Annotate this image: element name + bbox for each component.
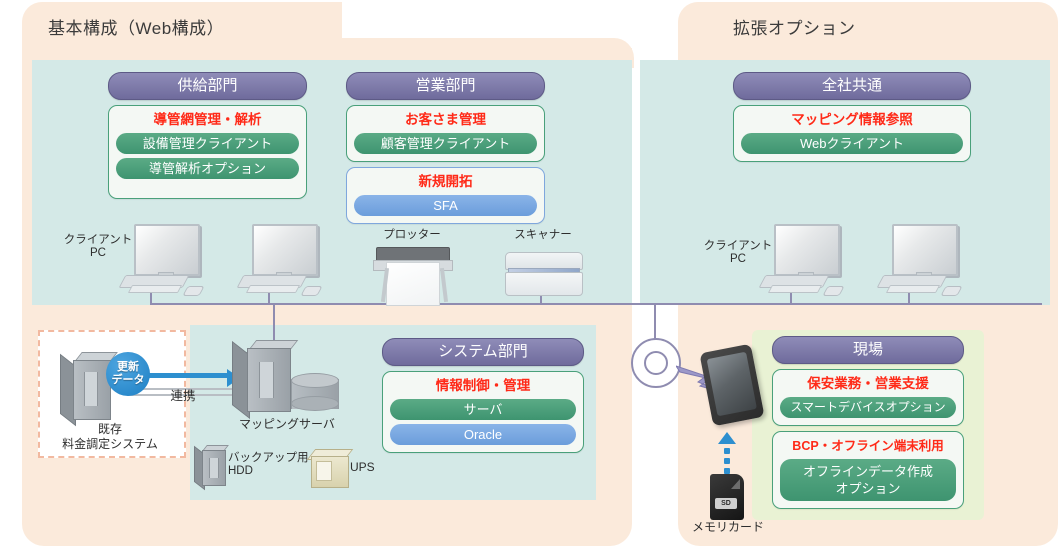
dept-header-field: 現場 (772, 336, 964, 364)
architecture-diagram: 基本構成（Web構成） 拡張オプション 供給部門 導管網管理・解析 設備管理クラ… (0, 0, 1060, 548)
keyboard-row-icon (886, 285, 940, 293)
pill-oracle[interactable]: Oracle (390, 424, 576, 445)
keyboard-row-icon (246, 285, 300, 293)
group-information-control: 情報制御・管理 サーバ Oracle (382, 371, 584, 453)
memory-card-chip-icon: SD (715, 498, 737, 509)
sd-transfer-arrowhead-icon (718, 432, 736, 444)
label-scanner: スキャナー (505, 229, 581, 242)
db-bottom (291, 396, 339, 411)
sd-transfer-dot (724, 458, 730, 464)
pill-facility-client[interactable]: 設備管理クライアント (116, 133, 299, 154)
label-client-pc-left: クライアント PC (60, 234, 136, 260)
ups-panel-icon (316, 461, 332, 481)
dept-card-company-wide: 全社共通 マッピング情報参照 Webクライアント (733, 72, 971, 162)
hdd-slot-icon (209, 458, 219, 478)
group-title-new-development: 新規開拓 (354, 173, 537, 191)
server-slot-icon (259, 362, 274, 398)
group-customer-management: お客さま管理 顧客管理クライアント (346, 105, 545, 162)
group-bcp-offline: BCP・オフライン端末利用 オフラインデータ作成 オプション (772, 431, 964, 509)
dept-card-field: 現場 保安業務・営業支援 スマートデバイスオプション BCP・オフライン端末利用… (772, 336, 964, 509)
label-linkage: 連携 (148, 390, 218, 403)
label-mapping-server: マッピングサーバ (222, 418, 352, 431)
group-title-bcp-offline: BCP・オフライン端末利用 (780, 437, 956, 455)
label-legacy-system: 既存 料金調定システム (44, 422, 176, 452)
database-cylinder-icon (291, 373, 337, 415)
pill-smart-device-option[interactable]: スマートデバイスオプション (780, 397, 956, 418)
dept-card-supply: 供給部門 導管網管理・解析 設備管理クライアント 導管解析オプション (108, 72, 307, 199)
group-title-customer: お客さま管理 (354, 111, 537, 129)
server-slot-icon (84, 372, 98, 406)
group-mapping-reference: マッピング情報参照 Webクライアント (733, 105, 971, 162)
scanner-body-icon (505, 272, 583, 296)
sd-transfer-dot (724, 448, 730, 454)
label-plotter: プロッター (374, 229, 450, 242)
pill-offline-data-option[interactable]: オフラインデータ作成 オプション (780, 459, 956, 501)
plotter-paper-icon (386, 262, 440, 306)
pill-server[interactable]: サーバ (390, 399, 576, 420)
network-backbone-right (630, 303, 1042, 305)
monitor-icon (134, 224, 200, 276)
tablet-screen-icon (707, 352, 757, 417)
db-top (291, 373, 339, 388)
group-title-mapping-reference: マッピング情報参照 (741, 111, 963, 129)
network-drop-access-point (654, 303, 656, 339)
group-title-safety-sales: 保安業務・営業支援 (780, 375, 956, 393)
memory-card-icon: SD (710, 474, 744, 520)
group-title-information-control: 情報制御・管理 (390, 377, 576, 395)
dept-card-sales: 営業部門 お客さま管理 顧客管理クライアント 新規開拓 SFA (346, 72, 545, 224)
dept-header-supply: 供給部門 (108, 72, 307, 100)
group-safety-sales-support: 保安業務・営業支援 スマートデバイスオプション (772, 369, 964, 426)
group-pipeline-management: 導管網管理・解析 設備管理クライアント 導管解析オプション (108, 105, 307, 199)
pill-pipeline-analysis-option[interactable]: 導管解析オプション (116, 158, 299, 179)
keyboard-row-icon (768, 285, 822, 293)
badge-update-data: 更新 データ (106, 352, 150, 396)
wireless-access-point-inner-icon (644, 351, 668, 375)
dept-header-sales: 営業部門 (346, 72, 545, 100)
pill-offline-line1: オフラインデータ作成 (780, 463, 956, 480)
dept-header-system: システム部門 (382, 338, 584, 366)
label-client-pc-right: クライアント PC (700, 240, 776, 266)
label-memory-card: メモリカード (682, 521, 774, 534)
pill-web-client[interactable]: Webクライアント (741, 133, 963, 154)
monitor-icon (892, 224, 958, 276)
group-title-pipeline: 導管網管理・解析 (116, 111, 299, 129)
pill-sfa[interactable]: SFA (354, 195, 537, 216)
group-new-development: 新規開拓 SFA (346, 167, 545, 224)
badge-update-data-text: 更新 データ (112, 361, 145, 387)
memory-card-notch-icon (731, 479, 740, 489)
monitor-icon (774, 224, 840, 276)
pill-customer-client[interactable]: 顧客管理クライアント (354, 133, 537, 154)
pill-offline-line2: オプション (780, 480, 956, 497)
keyboard-row-icon (128, 285, 182, 293)
dept-card-system: システム部門 情報制御・管理 サーバ Oracle (382, 338, 584, 453)
page-title-basic: 基本構成（Web構成） (48, 14, 224, 39)
monitor-icon (252, 224, 318, 276)
page-title-extension: 拡張オプション (733, 14, 856, 39)
label-ups: UPS (350, 461, 384, 474)
dept-header-company-wide: 全社共通 (733, 72, 971, 100)
